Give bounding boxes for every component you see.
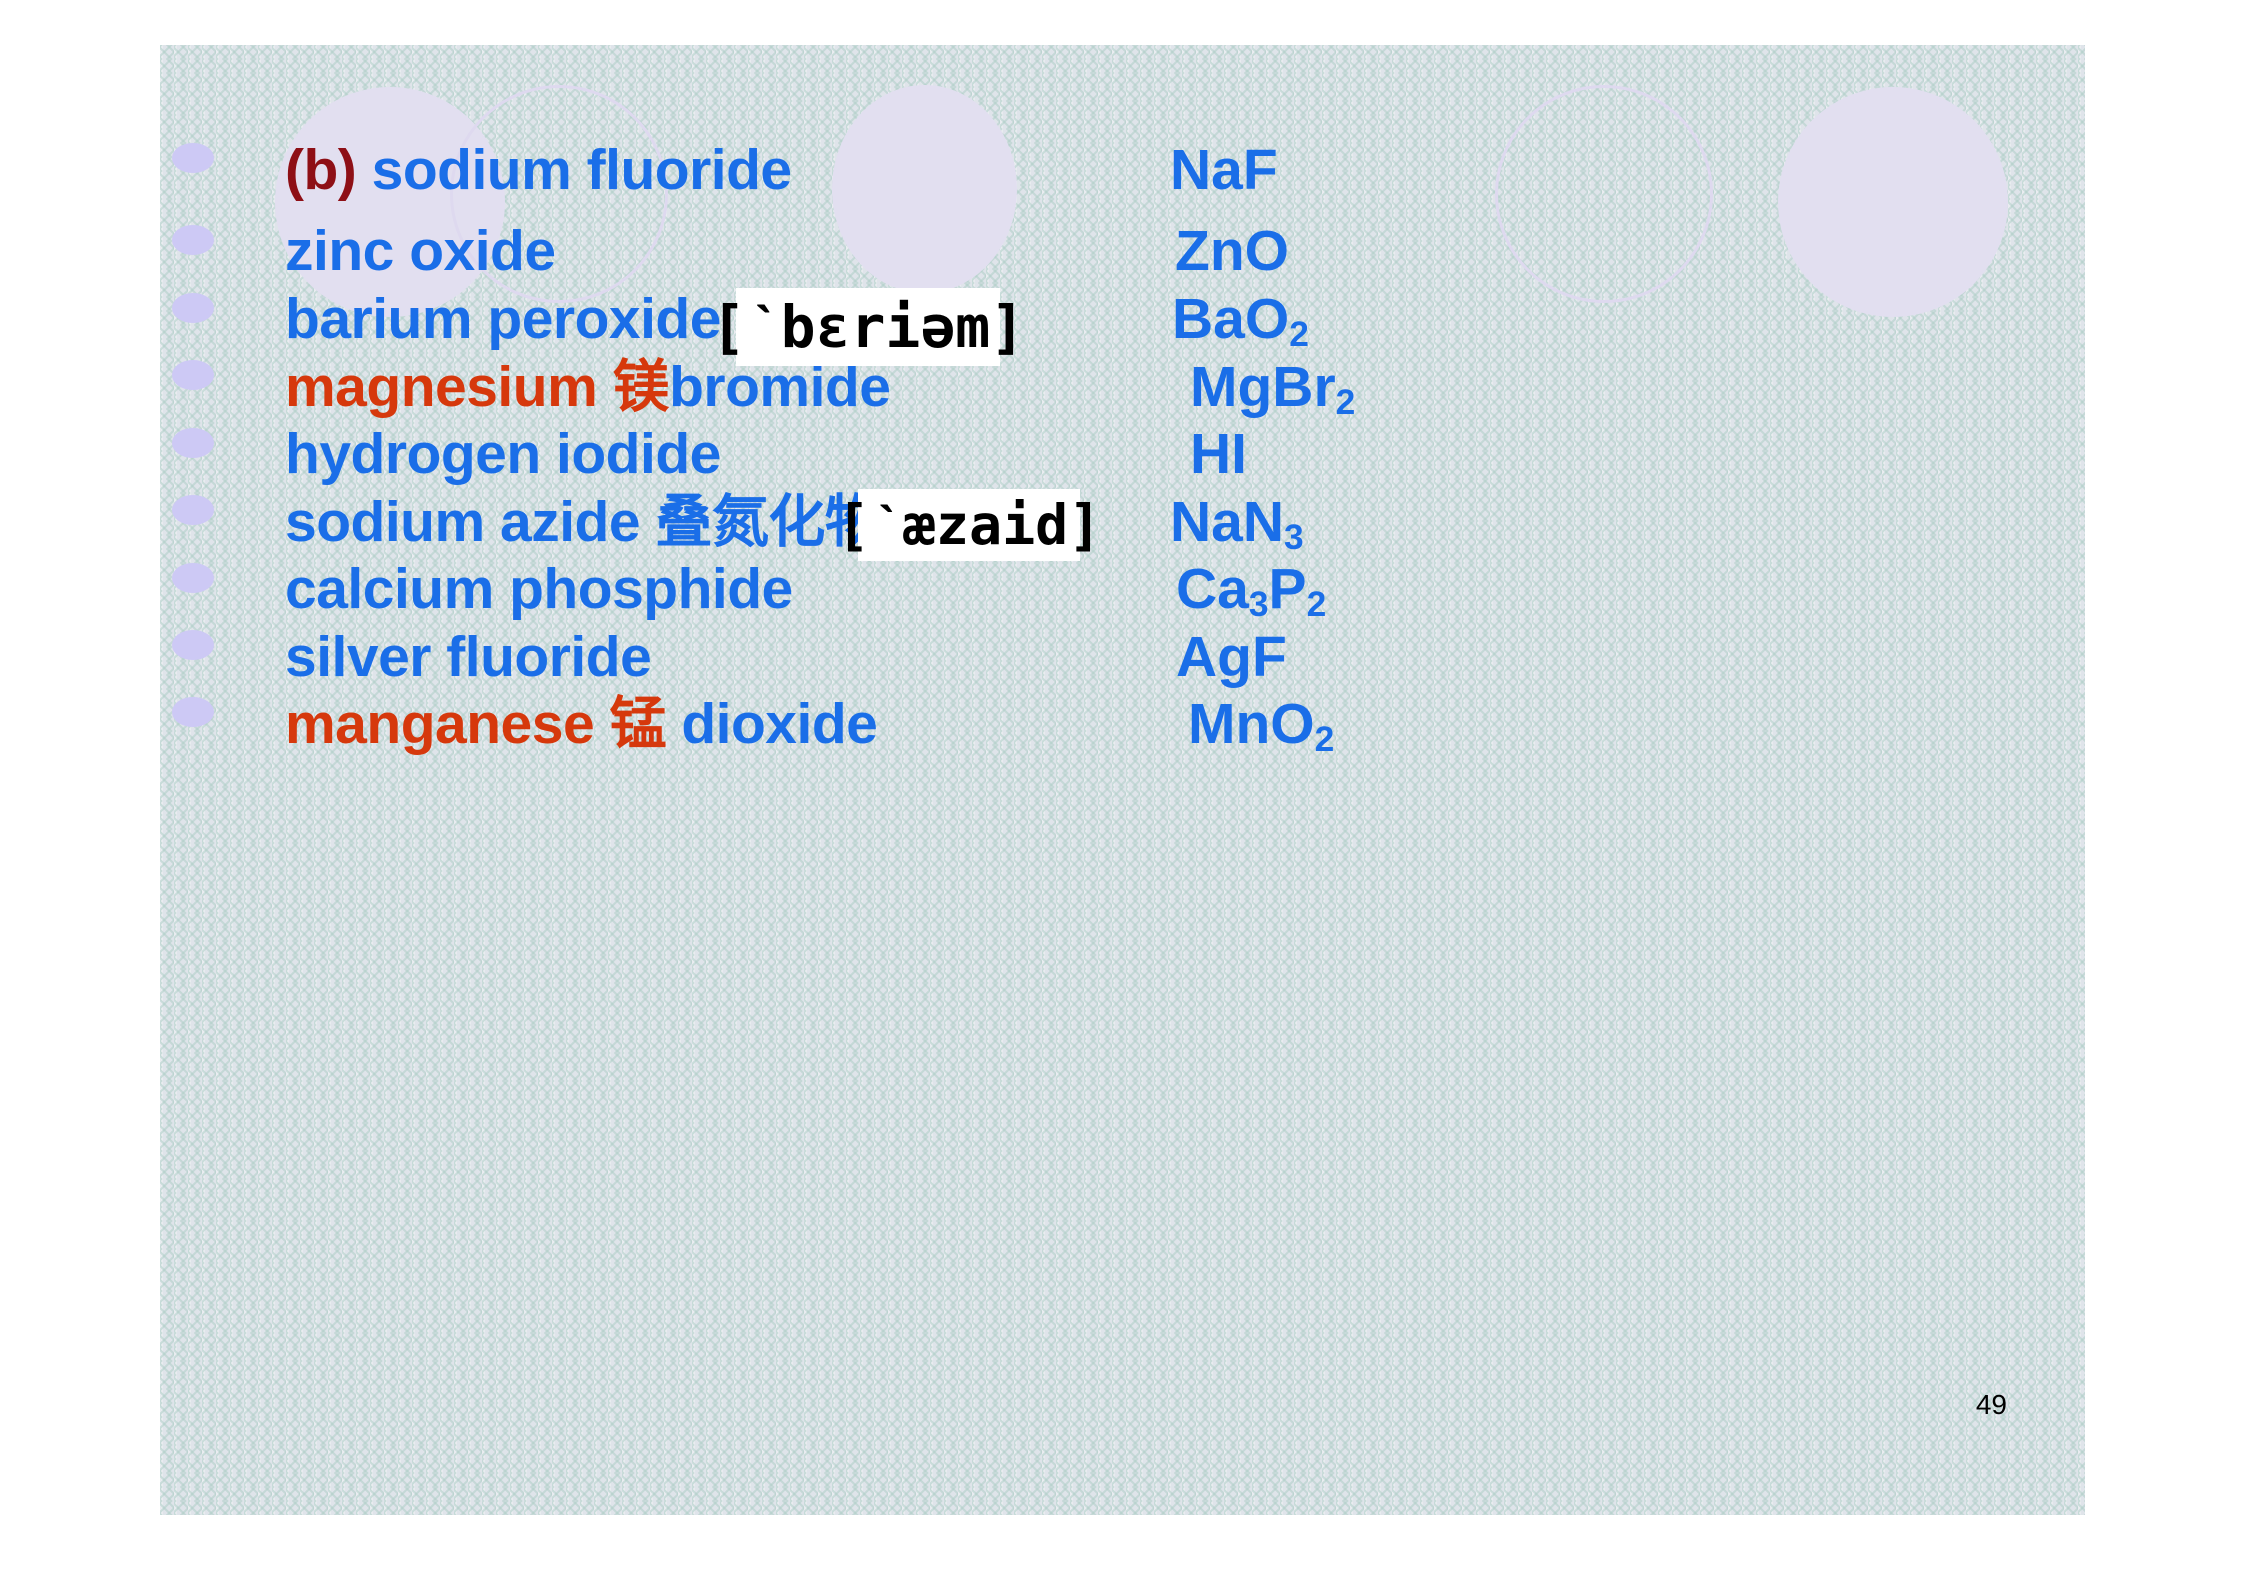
compound-name-text: manganese	[285, 692, 609, 756]
chemical-formula: MnO2	[1188, 681, 1334, 767]
phonetic-barium: [ˋbɛriəm]	[736, 288, 1000, 366]
compound-name-text: calcium phosphide	[285, 557, 793, 621]
compound-name-suffix: dioxide	[666, 692, 877, 756]
phonetic-azide: [ˋæzaid]	[858, 489, 1080, 561]
compound-name-text: silver fluoride	[285, 625, 651, 689]
compound-name-chinese: 锰	[609, 691, 666, 757]
compound-name-text: sodium azide	[285, 490, 655, 554]
page-number: 49	[1976, 1389, 2007, 1421]
compound-name: manganese 锰 dioxide	[285, 681, 877, 767]
formula-subscript: 2	[1315, 720, 1335, 759]
formula-tail: P	[1269, 557, 1307, 621]
compound-name-text: zinc oxide	[285, 219, 556, 283]
compound-name: (b) sodium fluoride	[285, 127, 792, 213]
compound-name-text: sodium fluoride	[372, 138, 792, 202]
compound-name-text: barium peroxide	[285, 287, 721, 351]
compound-name-text: hydrogen iodide	[285, 422, 721, 486]
compound-name-text: magnesium	[285, 355, 613, 419]
compound-row: manganese 锰 dioxide MnO2	[160, 681, 2085, 767]
chemical-formula: NaF	[1170, 127, 1278, 213]
slide-canvas: (b) sodium fluoride NaF zinc oxide ZnO b…	[160, 45, 2085, 1515]
item-label: (b)	[285, 138, 356, 202]
compound-row: (b) sodium fluoride NaF	[160, 127, 2085, 213]
